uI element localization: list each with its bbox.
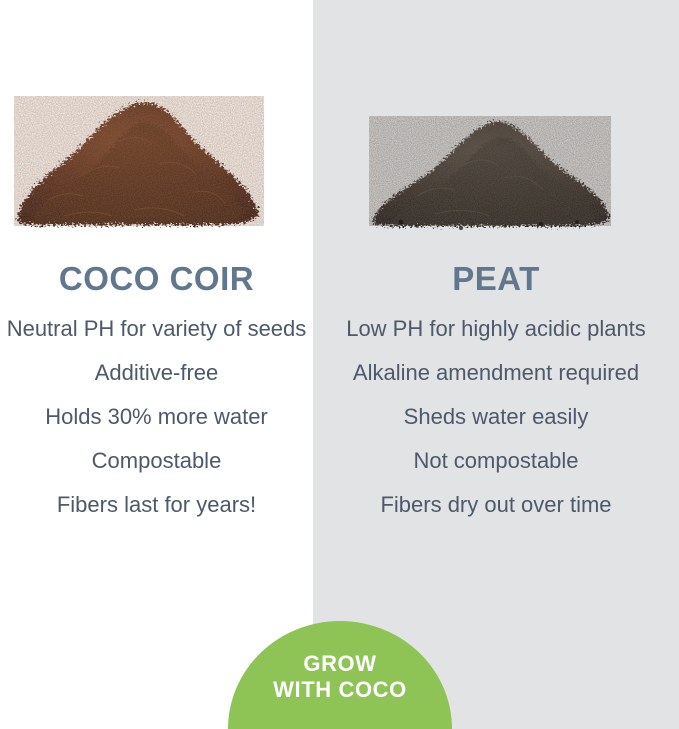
list-item: Fibers dry out over time <box>313 491 679 519</box>
list-item: Not compostable <box>313 447 679 475</box>
list-item: Additive-free <box>0 359 313 387</box>
peat-pile-graphic <box>365 92 615 232</box>
peat-pile-image <box>365 92 615 232</box>
badge-text: GROW WITH COCO <box>228 651 452 703</box>
peat-heading: PEAT <box>313 259 679 299</box>
list-item: Holds 30% more water <box>0 403 313 431</box>
badge-line-1: GROW <box>228 651 452 677</box>
peat-feature-list: Low PH for highly acidic plants Alkaline… <box>313 315 679 519</box>
coco-coir-feature-list: Neutral PH for variety of seeds Additive… <box>0 315 313 519</box>
coco-coir-heading: COCO COIR <box>0 259 313 299</box>
list-item: Sheds water easily <box>313 403 679 431</box>
list-item: Fibers last for years! <box>0 491 313 519</box>
coco-coir-pile-image <box>8 50 270 228</box>
list-item: Compostable <box>0 447 313 475</box>
list-item: Low PH for highly acidic plants <box>313 315 679 343</box>
list-item: Neutral PH for variety of seeds <box>0 315 313 343</box>
badge-line-2: WITH COCO <box>228 677 452 703</box>
comparison-infographic: COCO COIR PEAT Neutral PH for variety of… <box>0 0 679 729</box>
coco-coir-pile-graphic <box>8 50 270 228</box>
list-item: Alkaline amendment required <box>313 359 679 387</box>
